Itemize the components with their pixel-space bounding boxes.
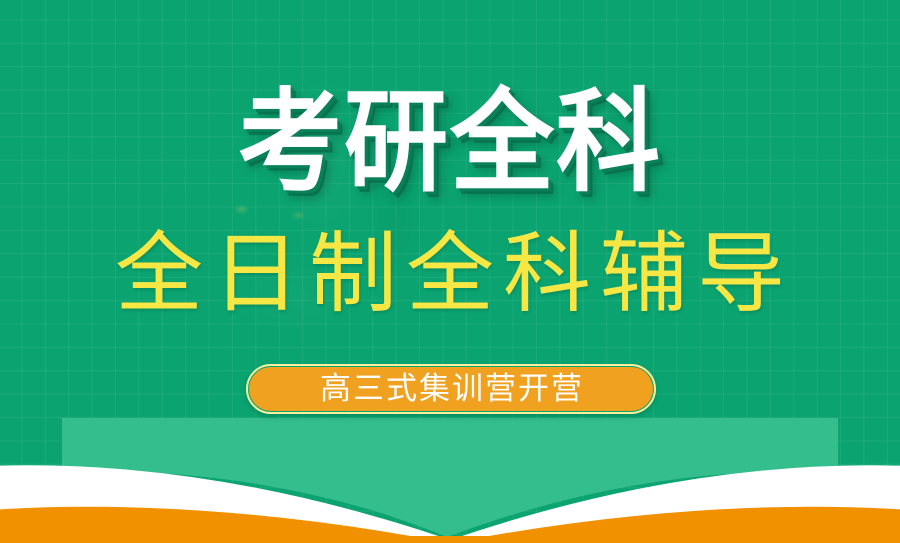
open-book-graphic [0,418,900,543]
headline-text: 考研全科 [238,86,662,197]
texture-speck-2 [236,208,247,211]
subheadline-text: 全日制全科辅导 [106,230,794,318]
badge-pill[interactable]: 高三式集训营开营 [246,364,656,414]
promo-banner: 考研全科 全日制全科辅导 高三式集训营开营 [0,0,900,543]
headline-block: 考研全科 [0,78,900,206]
badge-label: 高三式集训营开营 [318,374,584,405]
subheadline-block: 全日制全科辅导 [0,222,900,326]
texture-speck-3 [294,214,303,217]
book-cover-orange-base [0,536,900,543]
badge-inner-fill: 高三式集训营开营 [249,367,653,411]
